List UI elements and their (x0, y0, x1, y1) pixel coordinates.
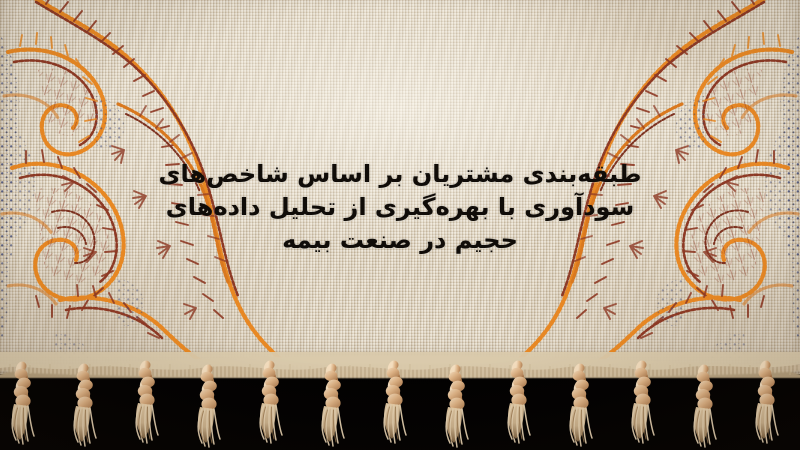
title-line-1: طبقه‌بندی مشتریان بر اساس شاخص‌های (0, 158, 800, 191)
title-card-canvas: .stitchO { fill:none; stroke:#e8861f; st… (0, 0, 800, 450)
title-line-2: سودآوری با بهره‌گیری از تحلیل داده‌های (0, 191, 800, 224)
title-line-3: حجیم در صنعت بیمه (0, 224, 800, 257)
page-title: طبقه‌بندی مشتریان بر اساس شاخص‌های سودآو… (0, 158, 800, 257)
